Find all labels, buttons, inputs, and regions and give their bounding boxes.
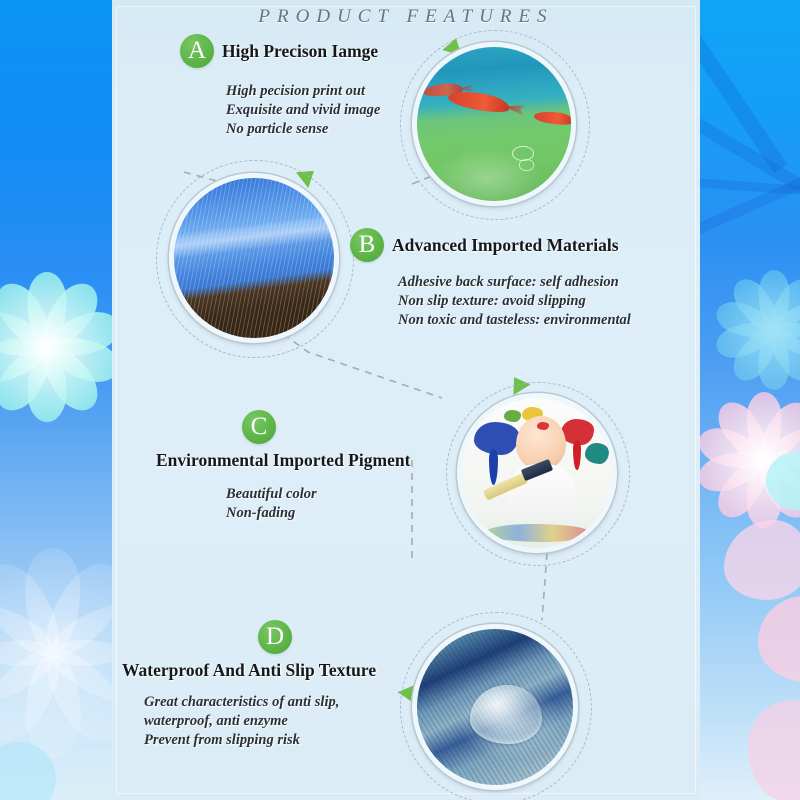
cyan-flower-motif-right [714, 270, 800, 390]
left-decorative-border [0, 0, 112, 800]
page-title: PRODUCT FEATURES [112, 6, 700, 28]
section-d-line-3: Prevent from slipping risk [144, 731, 376, 750]
koi-fish-3 [533, 109, 574, 127]
section-b: B Advanced Imported Materials Adhesive b… [350, 228, 631, 330]
section-d-head: D [258, 620, 376, 654]
paint-splat-teal [585, 443, 609, 464]
section-a-title: High Precison Iamge [222, 41, 378, 62]
teal-flower-motif [0, 272, 112, 422]
section-d-title: Waterproof And Anti Slip Texture [122, 660, 376, 681]
section-b-line-2: Non slip texture: avoid slipping [398, 292, 631, 311]
badge-c: C [242, 410, 276, 444]
paint-drip-red [573, 440, 581, 470]
water-droplet [470, 685, 542, 744]
paint-splat-blue [474, 422, 519, 455]
section-c-head: C [242, 410, 410, 444]
paint-splat-green [504, 410, 521, 422]
section-a-body: High pecision print out Exquisite and vi… [226, 82, 380, 139]
section-d-line-1: Great characteristics of anti slip, [144, 693, 376, 712]
section-d-body: Great characteristics of anti slip, wate… [144, 693, 376, 750]
section-b-head: B Advanced Imported Materials [350, 228, 631, 262]
content-panel: PRODUCT FEATURES [112, 0, 700, 800]
decor-blob-right-4 [748, 700, 800, 800]
section-c-line-1: Beautiful color [226, 485, 410, 504]
paint-splat-floor [483, 524, 588, 542]
section-a: A High Precison Iamge High pecision prin… [180, 34, 380, 139]
water-ripple-2 [519, 159, 535, 170]
section-c-line-2: Non-fading [226, 504, 410, 523]
paint-dot-forehead [537, 422, 549, 430]
section-b-body: Adhesive back surface: self adhesion Non… [398, 273, 631, 330]
section-a-line-2: Exquisite and vivid image [226, 101, 380, 120]
right-decorative-border [700, 0, 800, 800]
waterproof-texture-photo [412, 624, 578, 790]
decor-blob-right-1 [724, 520, 800, 600]
koi-pond-photo [412, 42, 576, 206]
badge-a: A [180, 34, 214, 68]
badge-d: D [258, 620, 292, 654]
section-a-head: A High Precison Iamge [180, 34, 380, 68]
section-c-title: Environmental Imported Pigment [156, 450, 410, 471]
section-b-title: Advanced Imported Materials [392, 235, 619, 256]
badge-b: B [350, 228, 384, 262]
section-b-line-3: Non toxic and tasteless: environmental [398, 311, 631, 330]
section-b-line-1: Adhesive back surface: self adhesion [398, 273, 631, 292]
fabric-sheen [169, 211, 339, 261]
paint-drip-blue [489, 449, 498, 485]
section-c-body: Beautiful color Non-fading [226, 485, 410, 523]
baby-painting-photo [457, 393, 617, 553]
section-a-line-3: No particle sense [226, 120, 380, 139]
section-d-line-2: waterproof, anti enzyme [144, 712, 376, 731]
section-d: D Waterproof And Anti Slip Texture Great… [122, 620, 376, 750]
pale-flower-motif-lower [0, 548, 112, 758]
blue-fabric-photo [169, 173, 339, 343]
section-a-line-1: High pecision print out [226, 82, 380, 101]
decor-blob-right-2 [758, 596, 800, 682]
section-c: C Environmental Imported Pigment Beautif… [156, 410, 410, 523]
product-features-poster: PRODUCT FEATURES [0, 0, 800, 800]
